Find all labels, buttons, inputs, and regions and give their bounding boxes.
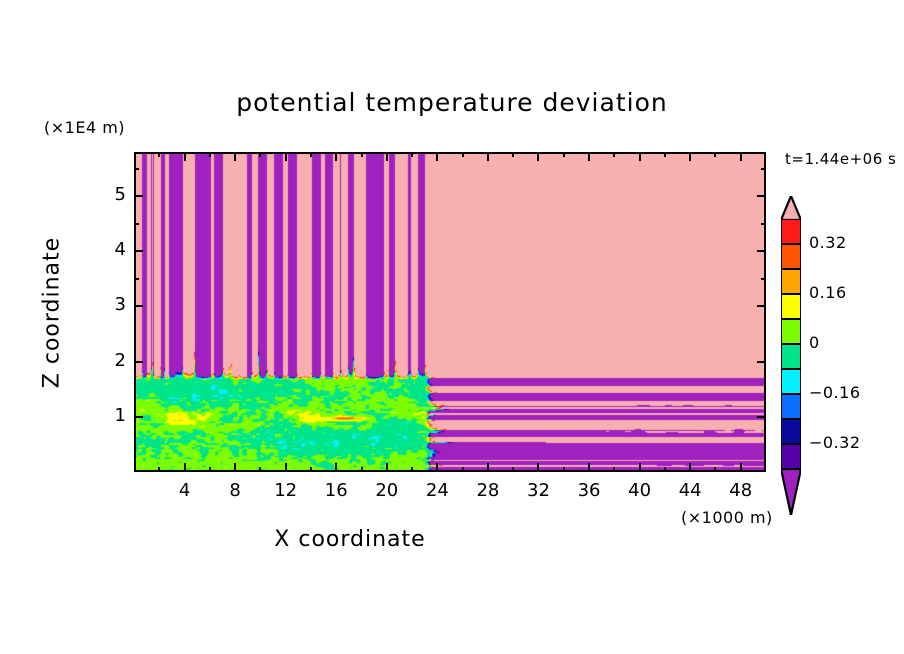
- x-tick-major-top: [285, 152, 287, 161]
- colorbar-under-arrow: [781, 469, 801, 515]
- x-tick-major-top: [386, 152, 388, 161]
- x-tick-major: [234, 463, 236, 472]
- y-tick-major: [134, 361, 143, 363]
- x-tick-minor-top: [411, 152, 413, 157]
- colorbar-cell: [781, 444, 801, 469]
- colorbar-cell: [781, 269, 801, 294]
- colorbar-cell: [781, 344, 801, 369]
- y-tick-minor-right: [761, 168, 766, 170]
- x-tick-major: [639, 463, 641, 472]
- y-tick-major-right: [757, 195, 766, 197]
- x-tick-minor: [563, 467, 565, 472]
- x-tick-major: [588, 463, 590, 472]
- y-tick-major: [134, 195, 143, 197]
- colorbar-cell: [781, 244, 801, 269]
- x-tick-minor: [714, 467, 716, 472]
- x-tick-minor: [158, 467, 160, 472]
- x-tick-major: [537, 463, 539, 472]
- time-annotation: t=1.44e+06 s: [785, 150, 896, 168]
- x-tick-major-top: [487, 152, 489, 161]
- colorbar-cell: [781, 394, 801, 419]
- x-tick-minor-top: [512, 152, 514, 157]
- colorbar-over-arrow: [781, 196, 801, 220]
- x-tick-major-top: [639, 152, 641, 161]
- y-tick-label: 4: [86, 239, 126, 260]
- contour-field-canvas: [136, 154, 766, 472]
- x-tick-major-top: [184, 152, 186, 161]
- x-tick-minor-top: [158, 152, 160, 157]
- colorbar-tick-label: 0: [809, 333, 820, 352]
- x-tick-major-top: [335, 152, 337, 161]
- x-tick-minor: [664, 467, 666, 472]
- x-tick-major: [689, 463, 691, 472]
- x-tick-minor: [411, 467, 413, 472]
- x-tick-minor: [259, 467, 261, 472]
- colorbar-cell: [781, 294, 801, 319]
- x-tick-major: [335, 463, 337, 472]
- colorbar-cell: [781, 369, 801, 394]
- y-tick-minor-right: [761, 278, 766, 280]
- x-axis-units-label: (×1000 m): [681, 508, 773, 527]
- y-axis-units-label: (×1E4 m): [44, 118, 125, 137]
- x-tick-major-top: [537, 152, 539, 161]
- y-tick-major: [134, 250, 143, 252]
- y-tick-label: 2: [86, 350, 126, 371]
- x-tick-minor-top: [563, 152, 565, 157]
- y-tick-major-right: [757, 250, 766, 252]
- x-tick-minor-top: [613, 152, 615, 157]
- y-tick-minor: [134, 278, 139, 280]
- y-tick-label: 1: [86, 405, 126, 426]
- x-tick-minor: [613, 467, 615, 472]
- y-tick-major: [134, 416, 143, 418]
- x-tick-minor: [462, 467, 464, 472]
- x-tick-minor: [209, 467, 211, 472]
- y-tick-major-right: [757, 305, 766, 307]
- x-tick-major-top: [436, 152, 438, 161]
- x-tick-minor-top: [462, 152, 464, 157]
- colorbar-tick-label: 0.32: [809, 233, 847, 252]
- x-tick-major: [487, 463, 489, 472]
- y-tick-label: 5: [86, 184, 126, 205]
- x-tick-minor-top: [664, 152, 666, 157]
- y-tick-minor-right: [761, 223, 766, 225]
- y-tick-major: [134, 305, 143, 307]
- x-tick-major: [184, 463, 186, 472]
- x-tick-minor-top: [209, 152, 211, 157]
- x-tick-minor-top: [259, 152, 261, 157]
- y-tick-major-right: [757, 416, 766, 418]
- y-tick-minor: [134, 223, 139, 225]
- colorbar-tick-label: −0.32: [809, 433, 861, 452]
- x-tick-major: [386, 463, 388, 472]
- colorbar-cell: [781, 219, 801, 244]
- y-tick-minor: [134, 168, 139, 170]
- y-axis-title: Z coordinate: [40, 233, 65, 393]
- plot-area: [134, 152, 766, 472]
- page-title: potential temperature deviation: [0, 88, 904, 117]
- x-tick-major-top: [689, 152, 691, 161]
- x-tick-minor-top: [361, 152, 363, 157]
- x-tick-major: [740, 463, 742, 472]
- colorbar: [781, 219, 801, 469]
- x-axis-title: X coordinate: [0, 527, 700, 552]
- colorbar-tick-label: −0.16: [809, 383, 861, 402]
- x-tick-minor: [512, 467, 514, 472]
- x-tick-label: 48: [711, 480, 771, 501]
- x-tick-major: [436, 463, 438, 472]
- contour-plot-figure: potential temperature deviation (×1E4 m)…: [0, 0, 904, 654]
- colorbar-tick-label: 0.16: [809, 283, 847, 302]
- y-tick-label: 3: [86, 294, 126, 315]
- x-tick-major-top: [588, 152, 590, 161]
- x-tick-minor: [310, 467, 312, 472]
- colorbar-cell: [781, 319, 801, 344]
- x-tick-minor: [361, 467, 363, 472]
- colorbar-cell: [781, 419, 801, 444]
- x-tick-major: [285, 463, 287, 472]
- x-tick-minor-top: [714, 152, 716, 157]
- x-tick-major-top: [740, 152, 742, 161]
- y-tick-major-right: [757, 361, 766, 363]
- x-tick-major-top: [234, 152, 236, 161]
- x-tick-minor-top: [310, 152, 312, 157]
